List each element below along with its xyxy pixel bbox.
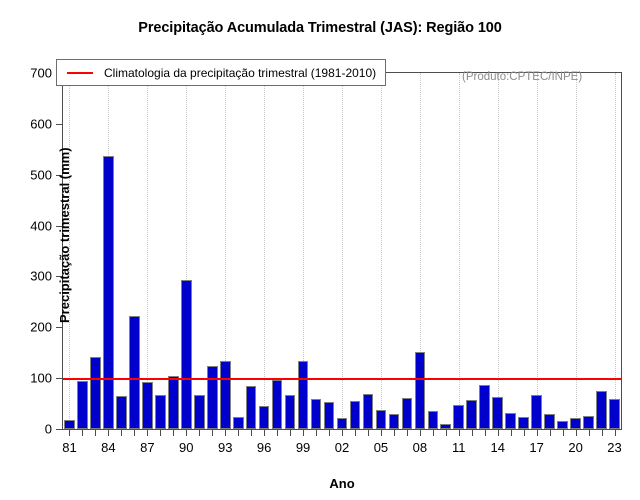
x-tick-label: 17 [529, 440, 543, 455]
x-tick-label: 05 [374, 440, 388, 455]
gridline [576, 73, 578, 429]
x-tick-mark [589, 429, 590, 436]
page-title: Precipitação Acumulada Trimestral (JAS):… [0, 20, 640, 36]
bar [505, 413, 516, 429]
bar [557, 421, 568, 429]
x-tick-mark [160, 429, 161, 436]
y-tick-label: 100 [30, 371, 52, 386]
x-tick-mark [537, 429, 538, 436]
x-tick-mark [498, 429, 499, 436]
x-tick-mark [95, 429, 96, 436]
gridline [342, 73, 344, 429]
bar [116, 396, 127, 429]
x-tick-mark [576, 429, 577, 436]
x-tick-mark [472, 429, 473, 436]
x-tick-mark [303, 429, 304, 436]
bar [181, 280, 192, 429]
x-tick-mark [355, 429, 356, 436]
precipitation-bar-chart-figure: Precipitação Acumulada Trimestral (JAS):… [0, 0, 640, 500]
x-tick-mark [290, 429, 291, 436]
y-tick-label: 200 [30, 320, 52, 335]
gridline [459, 73, 461, 429]
bar [272, 380, 283, 429]
x-tick-mark [264, 429, 265, 436]
bar [415, 352, 426, 429]
x-tick-mark [147, 429, 148, 436]
x-tick-mark [342, 429, 343, 436]
bar [298, 361, 309, 429]
gridline [147, 73, 149, 429]
x-tick-mark [212, 429, 213, 436]
x-tick-mark [186, 429, 187, 436]
y-tick-label: 600 [30, 116, 52, 131]
x-tick-label: 20 [568, 440, 582, 455]
bar [376, 410, 387, 429]
x-tick-mark [381, 429, 382, 436]
bar [363, 394, 374, 429]
x-tick-mark [407, 429, 408, 436]
gridline [498, 73, 500, 429]
bar [544, 414, 555, 429]
plot-frame: 0100200300400500600700 81848790939699020… [62, 72, 622, 430]
x-tick-mark [134, 429, 135, 436]
y-tick-label: 700 [30, 66, 52, 81]
x-tick-mark [329, 429, 330, 436]
bar [324, 402, 335, 429]
bar [233, 417, 244, 429]
x-tick-label: 87 [140, 440, 154, 455]
y-tick-mark [56, 124, 63, 125]
x-tick-mark [238, 429, 239, 436]
x-tick-mark [108, 429, 109, 436]
bar [337, 418, 348, 429]
y-tick-label: 500 [30, 167, 52, 182]
bar [311, 399, 322, 429]
y-tick-label: 0 [45, 422, 52, 437]
bar [609, 399, 620, 430]
x-tick-label: 84 [101, 440, 115, 455]
legend-line-swatch-icon [67, 72, 93, 74]
x-tick-mark [277, 429, 278, 436]
x-tick-mark [225, 429, 226, 436]
legend-item-label: Climatologia da precipitação trimestral … [104, 66, 376, 80]
x-tick-label: 14 [490, 440, 504, 455]
bar [479, 385, 490, 429]
bar [155, 395, 166, 429]
x-tick-mark [368, 429, 369, 436]
x-tick-mark [446, 429, 447, 436]
x-tick-mark [199, 429, 200, 436]
x-tick-label: 99 [296, 440, 310, 455]
bar [207, 366, 218, 429]
bar [90, 357, 101, 429]
x-tick-label: 11 [452, 440, 466, 455]
bar [453, 405, 464, 429]
x-tick-mark [121, 429, 122, 436]
x-tick-mark [420, 429, 421, 436]
x-tick-label: 90 [179, 440, 193, 455]
bar [583, 416, 594, 429]
bar [259, 406, 270, 429]
x-tick-mark [173, 429, 174, 436]
x-tick-mark [511, 429, 512, 436]
bar [350, 401, 361, 429]
x-axis-label: Ano [63, 476, 621, 491]
bar [518, 417, 529, 429]
bar [129, 316, 140, 429]
plot-area [63, 73, 621, 429]
x-tick-mark [251, 429, 252, 436]
x-tick-mark [69, 429, 70, 436]
y-tick-label: 400 [30, 218, 52, 233]
y-tick-mark [56, 327, 63, 328]
bar [285, 395, 296, 429]
bar [570, 418, 581, 429]
bar [428, 411, 439, 429]
bar [168, 376, 179, 429]
y-tick-mark [56, 429, 63, 430]
bar [402, 398, 413, 429]
bar [531, 395, 542, 429]
x-tick-mark [602, 429, 603, 436]
gridline [615, 73, 617, 429]
x-tick-label: 08 [413, 440, 427, 455]
x-tick-mark [524, 429, 525, 436]
bar [246, 386, 257, 429]
gridline [381, 73, 383, 429]
x-tick-label: 93 [218, 440, 232, 455]
y-tick-mark [56, 378, 63, 379]
gridline [537, 73, 539, 429]
bar [596, 391, 607, 429]
bar [103, 156, 114, 429]
x-tick-mark [459, 429, 460, 436]
x-tick-mark [563, 429, 564, 436]
bar [194, 395, 205, 429]
climatology-reference-line [63, 378, 621, 380]
x-tick-label: 81 [62, 440, 76, 455]
x-tick-mark [394, 429, 395, 436]
x-tick-mark [316, 429, 317, 436]
bar [77, 381, 88, 429]
x-tick-label: 02 [335, 440, 349, 455]
bar [220, 361, 231, 429]
gridline [264, 73, 266, 429]
x-tick-label: 96 [257, 440, 271, 455]
bar [142, 382, 153, 429]
bar [466, 400, 477, 429]
x-tick-mark [615, 429, 616, 436]
product-credit: (Produto:CPTEC/INPE) [462, 71, 582, 83]
legend: Climatologia da precipitação trimestral … [56, 59, 386, 86]
bar [389, 414, 400, 429]
y-axis-label: Precipitação trimestral (mm) [57, 147, 72, 323]
x-tick-mark [485, 429, 486, 436]
x-tick-mark [550, 429, 551, 436]
y-tick-label: 300 [30, 269, 52, 284]
x-tick-mark [82, 429, 83, 436]
x-tick-label: 23 [607, 440, 621, 455]
bar [64, 420, 75, 429]
bar [492, 397, 503, 429]
x-tick-mark [433, 429, 434, 436]
